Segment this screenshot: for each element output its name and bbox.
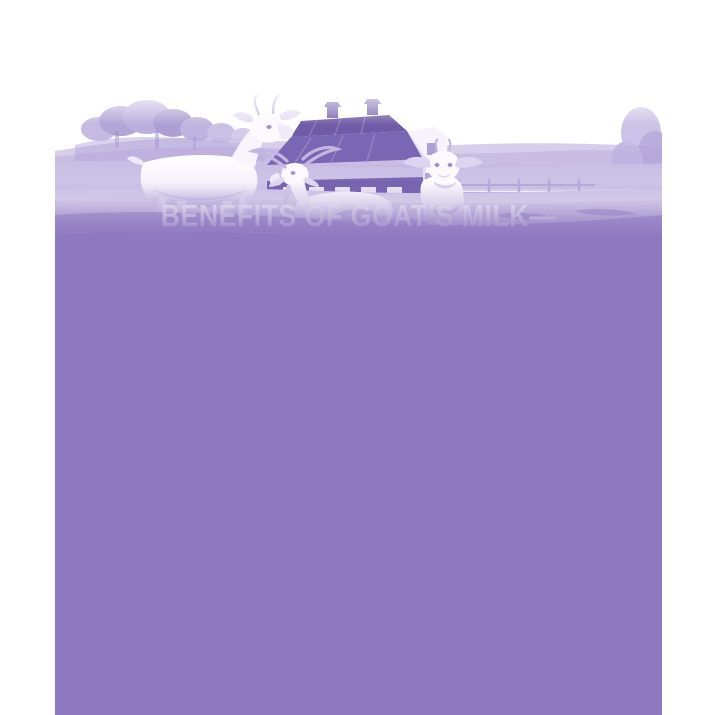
benefits-panel: BENEFITS OF GOAT’S MILK— Nourishing & ta… [55, 85, 662, 715]
illustration-panel-blend [55, 181, 662, 241]
benefits-content [55, 235, 662, 715]
